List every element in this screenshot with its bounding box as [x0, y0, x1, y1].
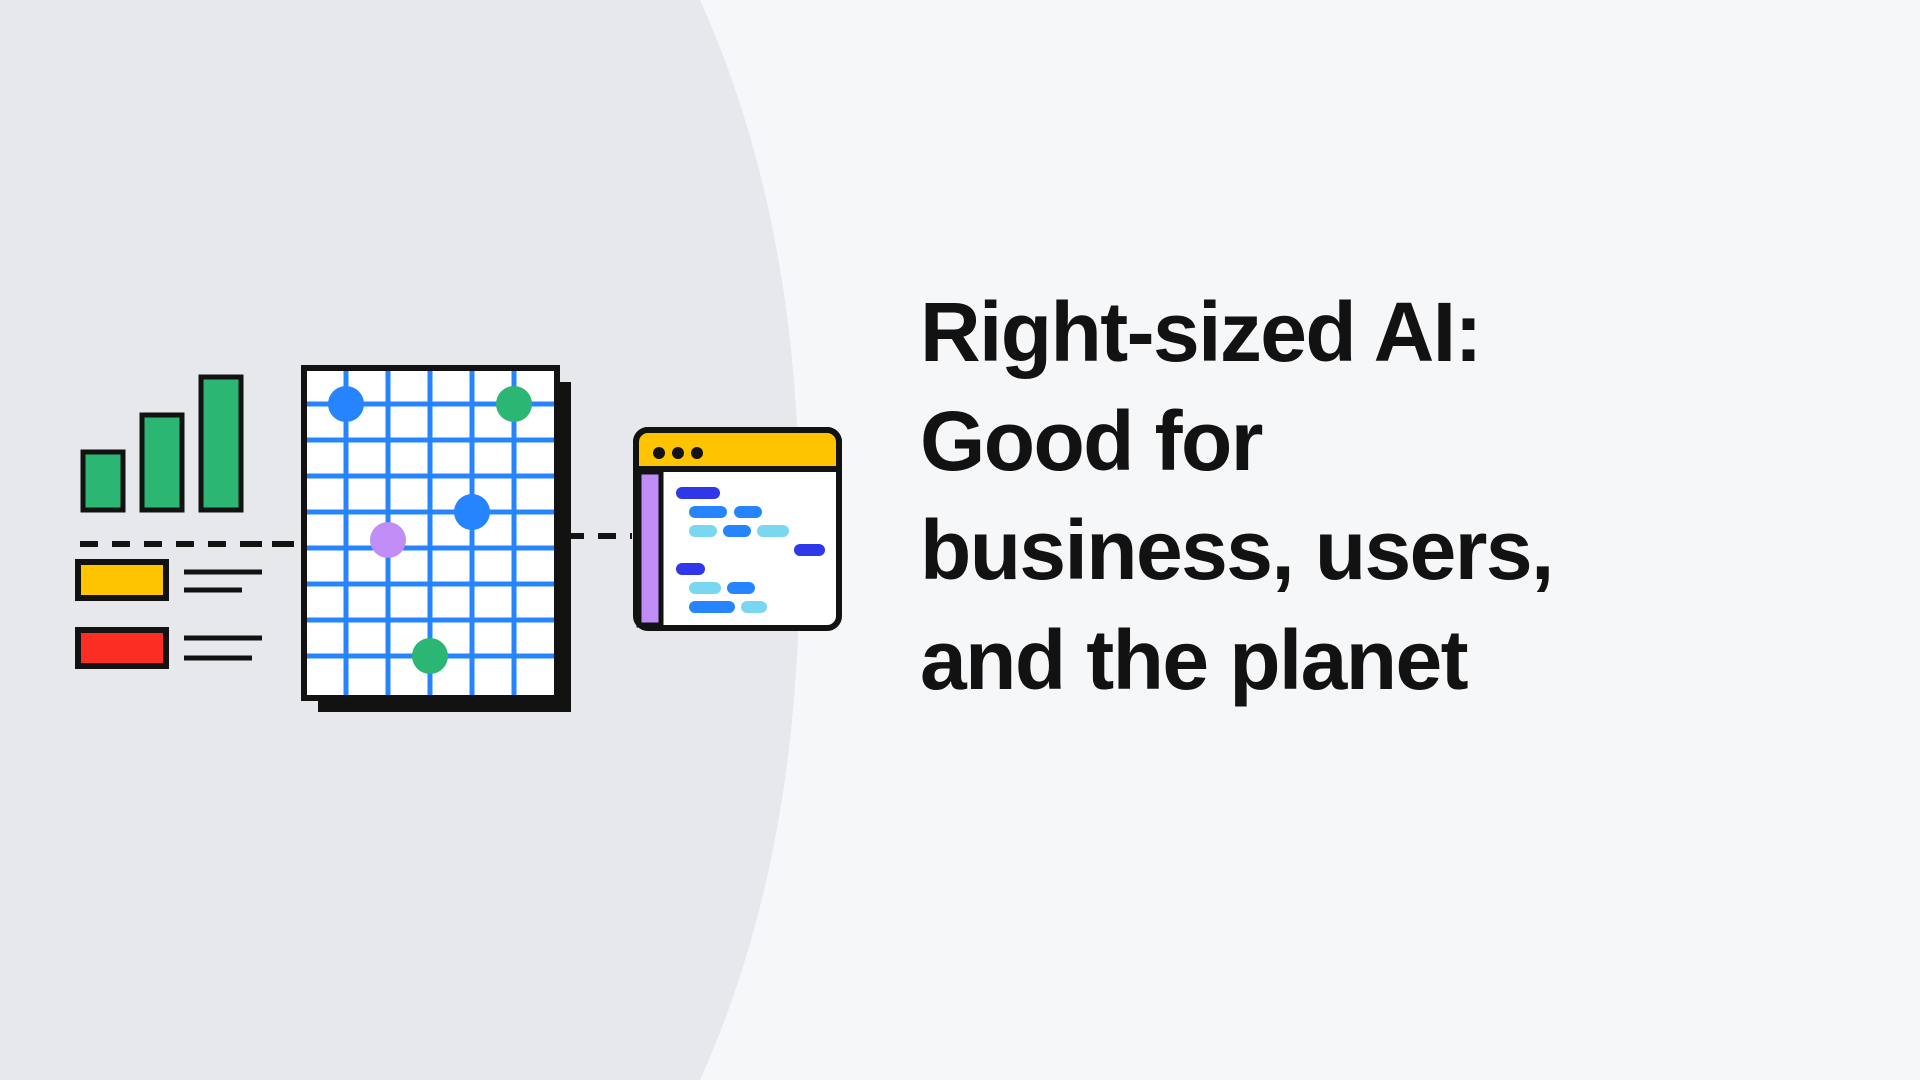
- browser-dot-1: [653, 447, 665, 459]
- browser-dot-3: [691, 447, 703, 459]
- point-green-1: [496, 386, 532, 422]
- browser-dot-2: [672, 447, 684, 459]
- green-bar-chart: [80, 377, 288, 544]
- bar-1: [83, 452, 123, 510]
- point-green-2: [412, 638, 448, 674]
- code-pill: [723, 525, 751, 537]
- code-pill: [727, 582, 755, 594]
- ai-efficiency-illustration: [0, 0, 900, 1080]
- hero-banner: Right-sized AI: Good for business, users…: [0, 0, 1920, 1080]
- code-pill: [689, 601, 735, 613]
- code-pill: [741, 601, 767, 613]
- code-pill: [676, 563, 705, 575]
- code-browser-window: [636, 430, 839, 628]
- headline-line-1: Right-sized AI:: [920, 278, 1790, 387]
- code-pill: [689, 506, 727, 518]
- headline-line-3: business, users,: [920, 496, 1790, 605]
- headline-block: Right-sized AI: Good for business, users…: [920, 278, 1790, 715]
- legend-row-yellow: [78, 562, 262, 598]
- page-title: Right-sized AI: Good for business, users…: [920, 278, 1790, 715]
- red-swatch: [78, 630, 166, 666]
- code-pill: [689, 582, 721, 594]
- code-pill: [734, 506, 762, 518]
- code-pill: [689, 525, 717, 537]
- scatter-grid-panel: [304, 368, 571, 712]
- code-pill: [794, 544, 825, 556]
- browser-sidebar: [639, 472, 661, 625]
- bar-3: [201, 377, 241, 510]
- yellow-swatch: [78, 562, 166, 598]
- point-blue-1: [328, 386, 364, 422]
- status-legend: [78, 562, 262, 666]
- point-blue-2: [454, 494, 490, 530]
- bar-2: [142, 415, 182, 510]
- code-pill: [757, 525, 789, 537]
- legend-row-red: [78, 630, 262, 666]
- browser-titlebar: [636, 430, 839, 469]
- headline-line-4: and the planet: [920, 606, 1790, 715]
- headline-line-2: Good for: [920, 387, 1790, 496]
- point-purple-1: [370, 522, 406, 558]
- code-pill: [676, 487, 720, 499]
